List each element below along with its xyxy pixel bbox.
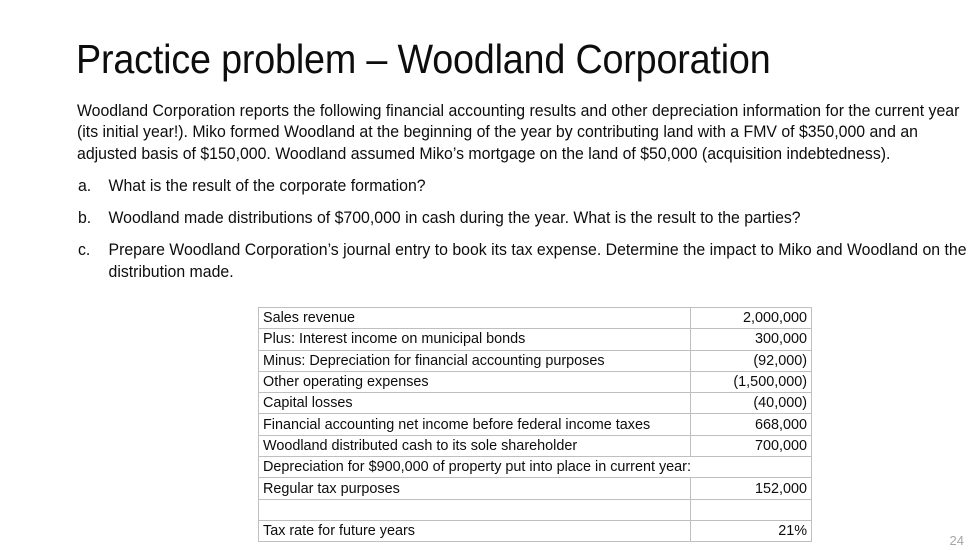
table-row: Plus: Interest income on municipal bonds… xyxy=(259,329,812,350)
table-cell-label: Other operating expenses xyxy=(259,371,691,392)
question-item: c.Prepare Woodland Corporation’s journal… xyxy=(77,239,968,282)
intro-paragraph: Woodland Corporation reports the followi… xyxy=(77,100,968,164)
table-row: Regular tax purposes152,000 xyxy=(259,478,812,499)
question-item: b.Woodland made distributions of $700,00… xyxy=(77,207,968,228)
question-item: a.What is the result of the corporate fo… xyxy=(77,175,968,196)
page-number: 24 xyxy=(950,533,964,548)
table-row: Minus: Depreciation for financial accoun… xyxy=(259,350,812,371)
table-cell-value: (40,000) xyxy=(691,393,812,414)
table-row: Woodland distributed cash to its sole sh… xyxy=(259,435,812,456)
table-row: Financial accounting net income before f… xyxy=(259,414,812,435)
table-row: Sales revenue2,000,000 xyxy=(259,308,812,329)
table-cell-label: Financial accounting net income before f… xyxy=(259,414,691,435)
table-cell-value: (92,000) xyxy=(691,350,812,371)
table-cell-label: Tax rate for future years xyxy=(259,520,691,541)
table-cell-label: Woodland distributed cash to its sole sh… xyxy=(259,435,691,456)
slide-body: Woodland Corporation reports the followi… xyxy=(77,100,968,282)
table-cell-value: 152,000 xyxy=(691,478,812,499)
table-row xyxy=(259,499,812,520)
question-marker: a. xyxy=(78,175,99,196)
table-cell-label: Depreciation for $900,000 of property pu… xyxy=(259,457,812,478)
table-row: Tax rate for future years21% xyxy=(259,520,812,541)
table-cell-label: Capital losses xyxy=(259,393,691,414)
question-text: Prepare Woodland Corporation’s journal e… xyxy=(109,240,967,280)
table-row: Other operating expenses(1,500,000) xyxy=(259,371,812,392)
table-cell-value: 668,000 xyxy=(691,414,812,435)
table-cell-label xyxy=(259,499,691,520)
table-cell-value xyxy=(691,499,812,520)
question-marker: b. xyxy=(78,207,99,228)
table-cell-label: Minus: Depreciation for financial accoun… xyxy=(259,350,691,371)
table-cell-label: Plus: Interest income on municipal bonds xyxy=(259,329,691,350)
question-marker: c. xyxy=(78,239,99,260)
financial-results-table: Sales revenue2,000,000Plus: Interest inc… xyxy=(258,307,812,542)
question-text: Woodland made distributions of $700,000 … xyxy=(109,208,801,227)
table-cell-value: 21% xyxy=(691,520,812,541)
table-cell-value: 300,000 xyxy=(691,329,812,350)
question-list: a.What is the result of the corporate fo… xyxy=(77,175,968,282)
table-cell-value: (1,500,000) xyxy=(691,371,812,392)
table-row: Depreciation for $900,000 of property pu… xyxy=(259,457,812,478)
table-cell-value: 700,000 xyxy=(691,435,812,456)
table-cell-label: Sales revenue xyxy=(259,308,691,329)
page-title: Practice problem – Woodland Corporation xyxy=(76,34,886,84)
question-text: What is the result of the corporate form… xyxy=(109,176,426,195)
table-cell-label: Regular tax purposes xyxy=(259,478,691,499)
table-row: Capital losses(40,000) xyxy=(259,393,812,414)
table-cell-value: 2,000,000 xyxy=(691,308,812,329)
